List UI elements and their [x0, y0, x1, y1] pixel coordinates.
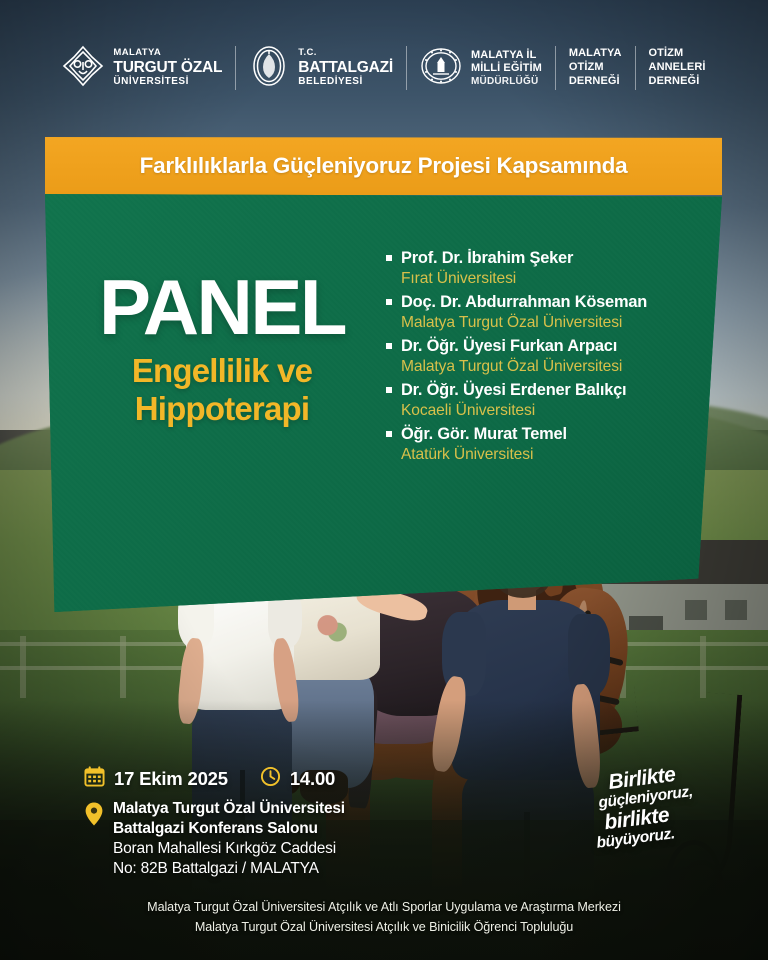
footer-line-1: Malatya Turgut Özal Üniversitesi Atçılık…: [0, 898, 768, 918]
speaker-item: Prof. Dr. İbrahim Şeker Fırat Üniversite…: [386, 248, 716, 290]
speaker-affiliation: Malatya Turgut Özal Üniversitesi: [386, 357, 716, 378]
logo-line2: OTİZM: [569, 61, 622, 75]
venue-line-2: Battalgazi Konferans Salonu: [113, 819, 345, 839]
logo-line3: ÜNİVERSİTESİ: [113, 76, 222, 87]
logo-malatya-turgut-ozal-university: MALATYA TURGUT ÖZAL ÜNİVERSİTESİ: [49, 45, 235, 92]
event-date: 17 Ekim 2025: [114, 768, 228, 790]
calendar-icon: [84, 766, 105, 792]
ministry-of-education-emblem-icon: [420, 45, 462, 92]
clock-icon: [260, 766, 281, 792]
logo-line3: BELEDİYESİ: [298, 76, 393, 87]
logo-line1: OTİZM: [649, 47, 706, 61]
logo-line2: ANNELERİ: [649, 61, 706, 75]
address-line-2: No: 82B Battalgazi / MALATYA: [113, 859, 345, 879]
footer-line-2: Malatya Turgut Özal Üniversitesi Atçılık…: [0, 918, 768, 938]
speaker-affiliation: Malatya Turgut Özal Üniversitesi: [386, 313, 716, 334]
organizer-footer: Malatya Turgut Özal Üniversitesi Atçılık…: [0, 898, 768, 937]
project-banner-text: Farklılıklarla Güçleniyoruz Projesi Kaps…: [140, 153, 628, 179]
speaker-item: Doç. Dr. Abdurrahman Köseman Malatya Tur…: [386, 292, 716, 334]
event-details: 17 Ekim 2025 14.00 Malatya Turgut Özal Ü…: [84, 766, 484, 880]
speaker-item: Öğr. Gör. Murat Temel Atatürk Üniversite…: [386, 424, 716, 466]
logo-line2: BATTALGAZİ: [298, 59, 393, 76]
subtitle-line-1: Engellilik ve: [62, 352, 382, 390]
logo-provincial-directorate-of-education: MALATYA İL MİLLİ EĞİTİM MÜDÜRLÜĞÜ: [407, 45, 555, 92]
logo-line1: MALATYA: [113, 48, 222, 59]
speaker-name: Öğr. Gör. Murat Temel: [386, 424, 716, 445]
venue-line-1: Malatya Turgut Özal Üniversitesi: [113, 799, 345, 819]
speaker-affiliation: Atatürk Üniversitesi: [386, 445, 716, 466]
subtitle-line-2: Hippoterapi: [62, 390, 382, 428]
university-emblem-icon: [62, 45, 104, 92]
speaker-affiliation: Fırat Üniversitesi: [386, 269, 716, 290]
logo-malatya-autism-association: MALATYA OTİZM DERNEĞİ: [556, 47, 635, 88]
speaker-name: Dr. Öğr. Üyesi Furkan Arpacı: [386, 336, 716, 357]
speaker-item: Dr. Öğr. Üyesi Erdener Balıkçı Kocaeli Ü…: [386, 380, 716, 422]
speaker-name: Prof. Dr. İbrahim Şeker: [386, 248, 716, 269]
speaker-name: Dr. Öğr. Üyesi Erdener Balıkçı: [386, 380, 716, 401]
speaker-affiliation: Kocaeli Üniversitesi: [386, 401, 716, 422]
event-poster: MALATYA TURGUT ÖZAL ÜNİVERSİTESİ T.C.: [0, 0, 768, 960]
logo-autism-mothers-association: OTİZM ANNELERİ DERNEĞİ: [636, 47, 719, 88]
page-title: PANEL: [62, 272, 382, 344]
logo-line1: MALATYA İL: [471, 49, 542, 63]
logo-line2: MİLLİ EĞİTİM: [471, 62, 542, 76]
speaker-name: Doç. Dr. Abdurrahman Köseman: [386, 292, 716, 313]
location-row: Malatya Turgut Özal Üniversitesi Battalg…: [84, 799, 484, 880]
speaker-list: Prof. Dr. İbrahim Şeker Fırat Üniversite…: [386, 248, 716, 468]
campaign-slogan: Birlikte güçleniyoruz, birlikte büyüyoru…: [596, 762, 756, 872]
logo-line2: TURGUT ÖZAL: [113, 59, 222, 76]
panel-title-block: PANEL Engellilik ve Hippoterapi: [62, 272, 382, 428]
sponsor-logo-bar: MALATYA TURGUT ÖZAL ÜNİVERSİTESİ T.C.: [0, 0, 768, 136]
logo-line1: T.C.: [298, 48, 393, 59]
logo-line3: DERNEĞİ: [569, 75, 622, 89]
logo-battalgazi-municipality: T.C. BATTALGAZİ BELEDİYESİ: [236, 45, 406, 92]
logo-line3: DERNEĞİ: [649, 75, 706, 89]
location-pin-icon: [84, 799, 104, 832]
battalgazi-municipality-emblem-icon: [249, 45, 289, 92]
logo-line1: MALATYA: [569, 47, 622, 61]
logo-line3: MÜDÜRLÜĞÜ: [471, 76, 542, 87]
project-banner: Farklılıklarla Güçleniyoruz Projesi Kaps…: [45, 137, 722, 195]
date-time-row: 17 Ekim 2025 14.00: [84, 766, 484, 792]
address-line-1: Boran Mahallesi Kırkgöz Caddesi: [113, 839, 345, 859]
speaker-item: Dr. Öğr. Üyesi Furkan Arpacı Malatya Tur…: [386, 336, 716, 378]
event-time: 14.00: [290, 768, 335, 790]
